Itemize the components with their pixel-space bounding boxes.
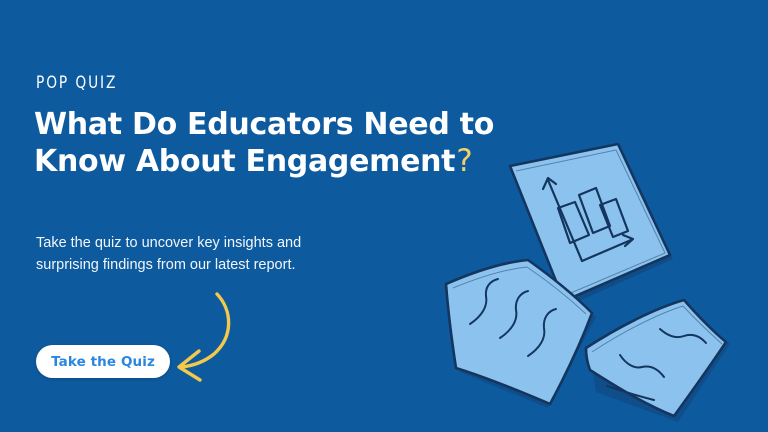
text-paper-right [586, 300, 730, 422]
curved-arrow-icon [160, 288, 270, 388]
subcopy-text: Take the quiz to uncover key insights an… [36, 232, 426, 276]
headline-line-2: Know About Engagement [34, 144, 455, 179]
scattered-report-papers-illustration [430, 140, 768, 432]
promo-banner: POP QUIZ What Do Educators Need to Know … [0, 0, 768, 432]
eyebrow-label: POP QUIZ [36, 72, 117, 94]
take-the-quiz-button[interactable]: Take the Quiz [36, 345, 170, 378]
subcopy-line-2: surprising findings from our latest repo… [36, 257, 296, 273]
subcopy-line-1: Take the quiz to uncover key insights an… [36, 235, 301, 251]
headline-line-1: What Do Educators Need to [34, 107, 494, 142]
